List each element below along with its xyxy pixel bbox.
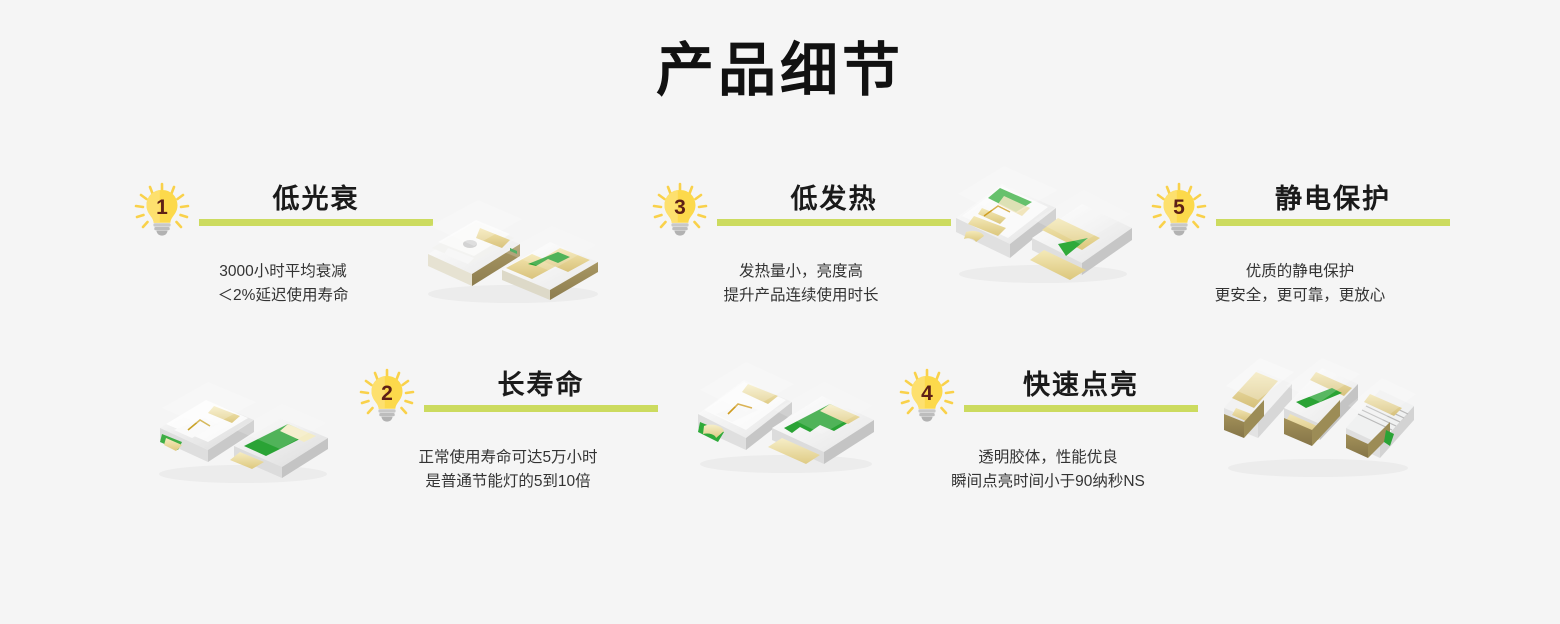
feature-description-line-2: 是普通节能灯的5到10倍 bbox=[358, 470, 658, 494]
feature-description-line-1: 正常使用寿命可达5万小时 bbox=[358, 446, 658, 470]
feature-description: 透明胶体，性能优良 瞬间点亮时间小于90纳秒NS bbox=[898, 446, 1198, 494]
bulb-number: 4 bbox=[921, 382, 933, 405]
title-underline-rule bbox=[199, 219, 433, 226]
feature-title-wrap: 静电保护 bbox=[1216, 182, 1450, 226]
feature-title: 低光衰 bbox=[199, 182, 433, 216]
feature-description: 3000小时平均衰减 ＜2%延迟使用寿命 bbox=[133, 260, 433, 308]
smd-led-photo-1 bbox=[418, 186, 608, 306]
feature-description-line-2: 更安全，更可靠，更放心 bbox=[1150, 284, 1450, 308]
page-title: 产品细节 bbox=[0, 42, 1560, 100]
feature-title-wrap: 低光衰 bbox=[199, 182, 433, 226]
title-underline-rule bbox=[717, 219, 951, 226]
feature-description-line-1: 优质的静电保护 bbox=[1150, 260, 1450, 284]
smd-led-photo-3 bbox=[948, 162, 1138, 287]
smd-led-photo-5 bbox=[1218, 352, 1418, 482]
title-underline-rule bbox=[1216, 219, 1450, 226]
title-underline-rule bbox=[964, 405, 1198, 412]
product-details-page: 产品细节 bbox=[0, 0, 1560, 624]
feature-block-1: 1 低光衰 3000小时平均衰减 ＜2%延迟使用寿命 bbox=[133, 182, 433, 308]
feature-description-line-1: 透明胶体，性能优良 bbox=[898, 446, 1198, 470]
feature-title-wrap: 低发热 bbox=[717, 182, 951, 226]
feature-description: 正常使用寿命可达5万小时 是普通节能灯的5到10倍 bbox=[358, 446, 658, 494]
feature-title-wrap: 快速点亮 bbox=[964, 368, 1198, 412]
feature-description-line-2: ＜2%延迟使用寿命 bbox=[133, 284, 433, 308]
lightbulb-icon: 1 bbox=[133, 182, 191, 242]
feature-title: 快速点亮 bbox=[964, 368, 1198, 402]
feature-block-3: 3 低发热 发热量小，亮度高 提升产品连续使用时长 bbox=[651, 182, 951, 308]
feature-header: 5 静电保护 bbox=[1150, 182, 1450, 244]
feature-description-line-2: 提升产品连续使用时长 bbox=[651, 284, 951, 308]
bulb-number: 1 bbox=[156, 196, 168, 219]
feature-header: 3 低发热 bbox=[651, 182, 951, 244]
feature-header: 4 快速点亮 bbox=[898, 368, 1198, 430]
bulb-number: 5 bbox=[1173, 196, 1185, 219]
lightbulb-icon: 5 bbox=[1150, 182, 1208, 242]
title-underline-rule bbox=[424, 405, 658, 412]
feature-title: 静电保护 bbox=[1216, 182, 1450, 216]
feature-header: 2 长寿命 bbox=[358, 368, 658, 430]
feature-title: 长寿命 bbox=[424, 368, 658, 402]
feature-description-line-1: 3000小时平均衰减 bbox=[133, 260, 433, 284]
bulb-number: 2 bbox=[381, 382, 393, 405]
feature-title: 低发热 bbox=[717, 182, 951, 216]
feature-block-5: 5 静电保护 优质的静电保护 更安全，更可靠，更放心 bbox=[1150, 182, 1450, 308]
feature-description: 优质的静电保护 更安全，更可靠，更放心 bbox=[1150, 260, 1450, 308]
bulb-number: 3 bbox=[674, 196, 686, 219]
feature-block-4: 4 快速点亮 透明胶体，性能优良 瞬间点亮时间小于90纳秒NS bbox=[898, 368, 1198, 494]
feature-description-line-2: 瞬间点亮时间小于90纳秒NS bbox=[898, 470, 1198, 494]
smd-led-photo-2 bbox=[148, 368, 338, 488]
feature-description: 发热量小，亮度高 提升产品连续使用时长 bbox=[651, 260, 951, 308]
lightbulb-icon: 3 bbox=[651, 182, 709, 242]
feature-title-wrap: 长寿命 bbox=[424, 368, 658, 412]
feature-block-2: 2 长寿命 正常使用寿命可达5万小时 是普通节能灯的5到10倍 bbox=[358, 368, 658, 494]
feature-header: 1 低光衰 bbox=[133, 182, 433, 244]
lightbulb-icon: 2 bbox=[358, 368, 416, 428]
smd-led-photo-4 bbox=[688, 352, 883, 477]
lightbulb-icon: 4 bbox=[898, 368, 956, 428]
feature-description-line-1: 发热量小，亮度高 bbox=[651, 260, 951, 284]
